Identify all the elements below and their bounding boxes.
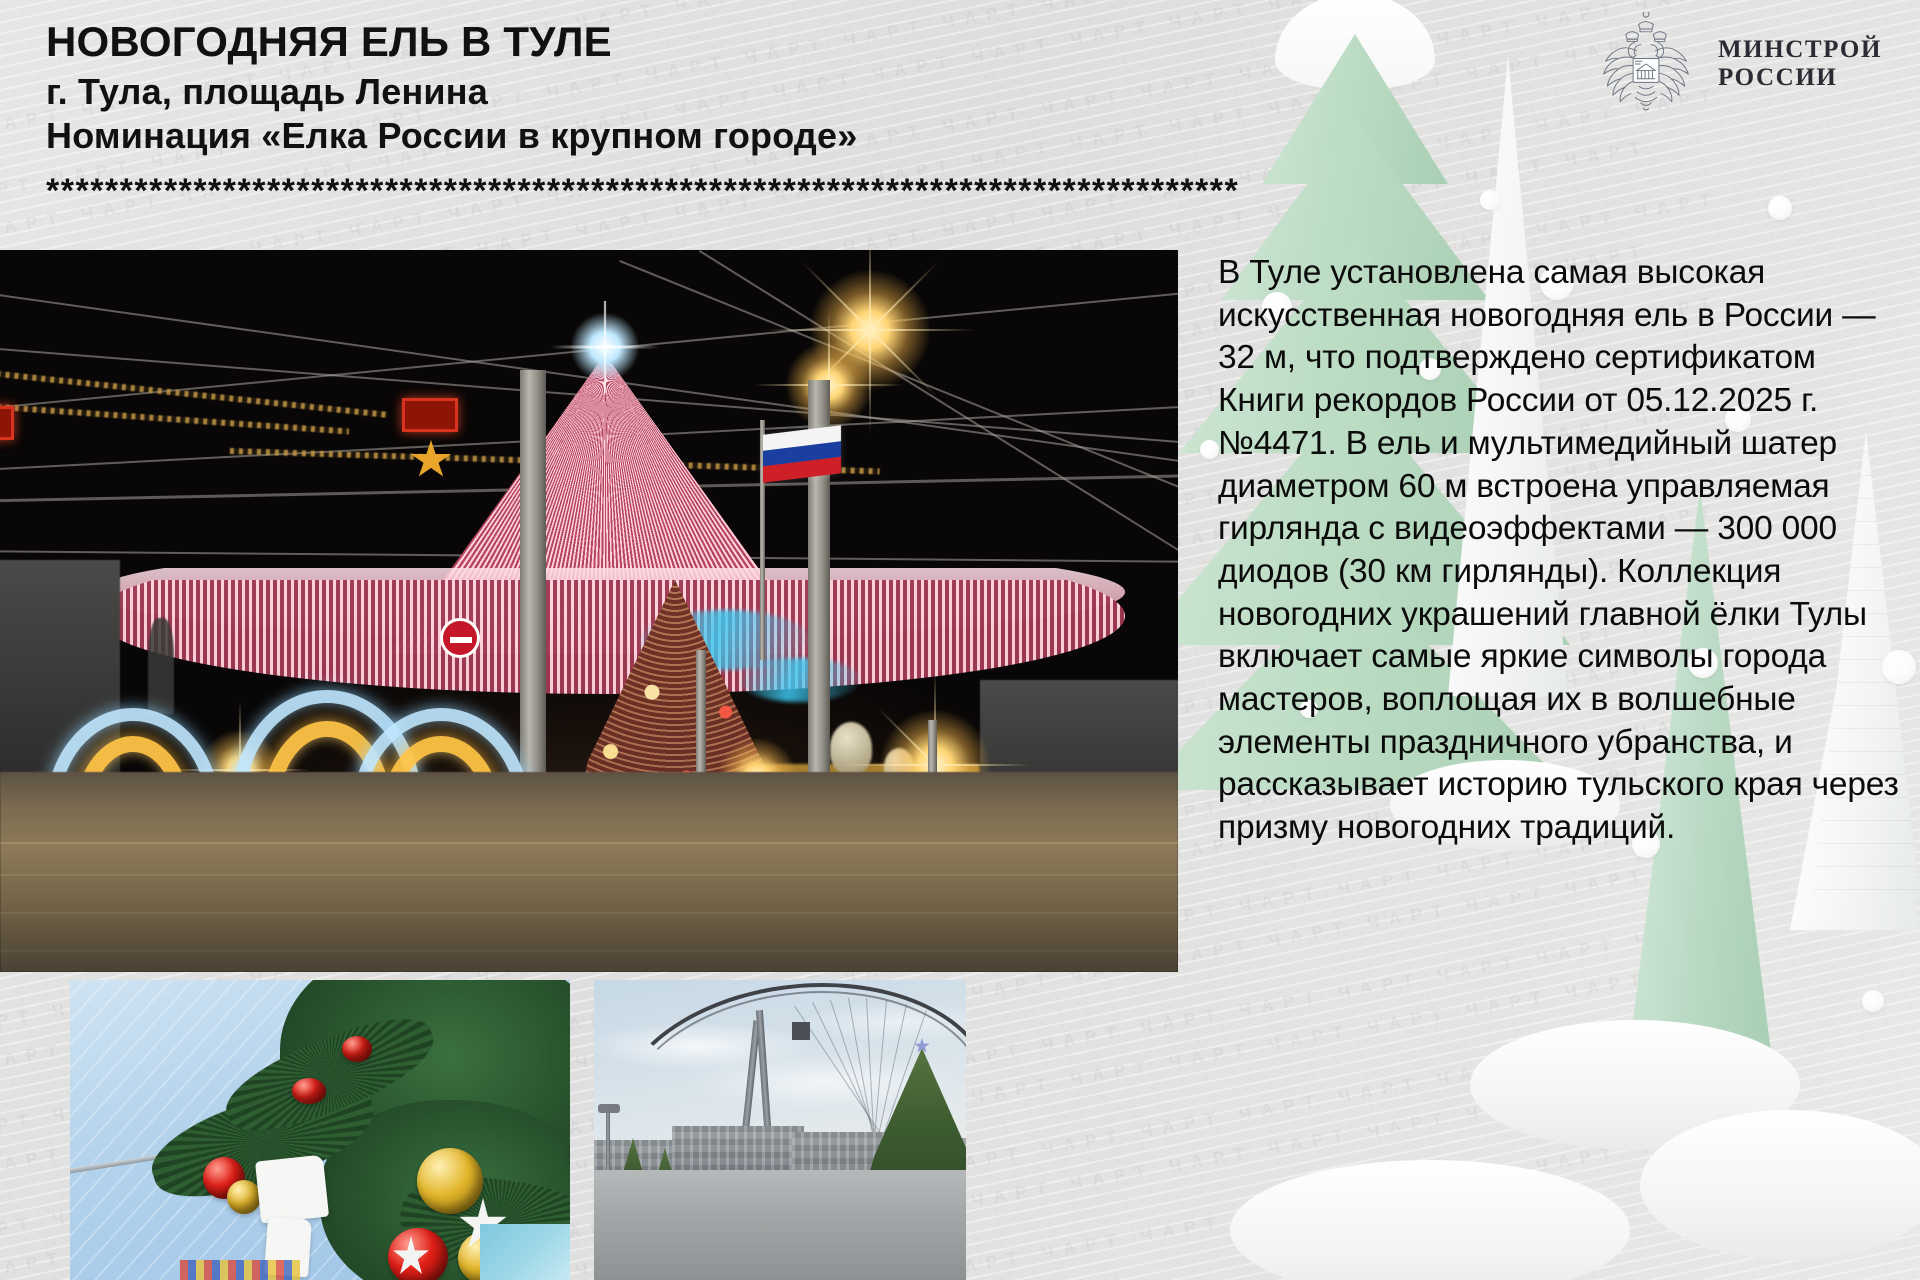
kremlin-dome — [830, 722, 872, 774]
double-headed-eagle-icon — [1600, 12, 1692, 116]
photo-main-night-square — [0, 250, 1178, 972]
header: НОВОГОДНЯЯ ЕЛЬ В ТУЛЕ г. Тула, площадь Л… — [0, 0, 1920, 248]
gold-bauble — [227, 1180, 261, 1214]
snowball-4 — [1200, 440, 1219, 459]
plaza-pavement — [594, 1170, 966, 1280]
photo-tree-closeup — [70, 980, 570, 1280]
nomination-subtitle: Номинация «Елка России в крупном городе» — [46, 115, 857, 157]
ministry-logo-line1: МИНСТРОЙ — [1718, 36, 1882, 64]
square-pavement — [0, 772, 1178, 972]
title-block: НОВОГОДНЯЯ ЕЛЬ В ТУЛЕ г. Тула, площадь Л… — [46, 18, 857, 157]
gold-bauble — [417, 1148, 483, 1214]
pavement-streak — [0, 912, 1178, 914]
ministry-logo-text: МИНСТРОЙ РОССИИ — [1718, 36, 1882, 92]
lamp-head — [598, 1104, 620, 1113]
snowball-12 — [1862, 990, 1884, 1012]
mast-node — [792, 1022, 810, 1040]
lamp-ray — [869, 250, 871, 435]
ice-skate-ornament — [255, 1155, 329, 1224]
flag-bunting — [180, 1260, 300, 1280]
pavement-streak — [0, 874, 1178, 876]
page-title: НОВОГОДНЯЯ ЕЛЬ В ТУЛЕ — [46, 18, 857, 67]
photo-daytime-square — [594, 980, 966, 1280]
pavement-streak — [0, 950, 1178, 952]
no-entry-sign-icon — [440, 618, 480, 658]
red-bauble — [292, 1078, 326, 1104]
ministry-logo-line2: РОССИИ — [1718, 64, 1882, 92]
russian-flag — [763, 425, 841, 483]
red-bauble — [342, 1036, 372, 1062]
asterisk-divider: ****************************************… — [46, 176, 1436, 207]
star-topper-icon — [570, 312, 640, 382]
ministry-logo: МИНСТРОЙ РОССИИ — [1600, 12, 1882, 116]
lenin-statue — [148, 618, 174, 714]
location-subtitle: г. Тула, площадь Ленина — [46, 71, 857, 113]
red-illuminated-sign — [0, 406, 14, 440]
canopy-cyan-light-streak — [740, 658, 860, 702]
description-text: В Туле установлена самая высокая искусст… — [1218, 252, 1908, 850]
decorated-panel — [480, 1224, 570, 1280]
pavement-streak — [0, 842, 1178, 844]
red-illuminated-sign — [402, 398, 458, 432]
snow-drift-2 — [1640, 1110, 1920, 1260]
